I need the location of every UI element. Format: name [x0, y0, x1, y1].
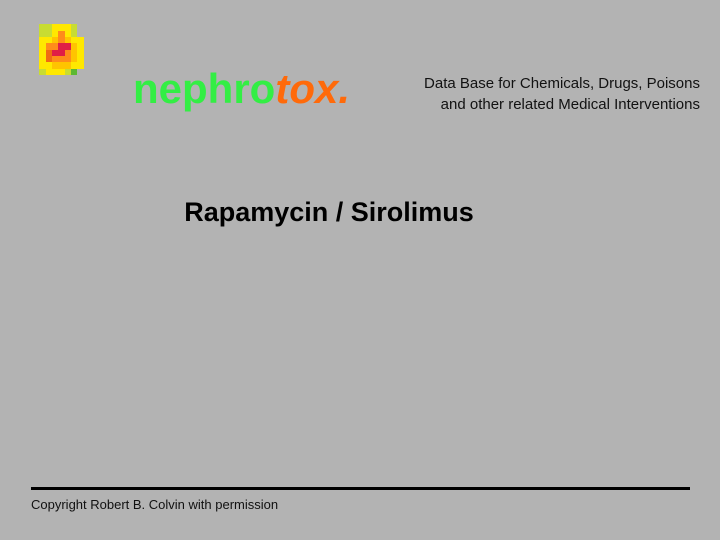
tagline-line-2: and other related Medical Interventions — [380, 94, 700, 115]
footer-divider — [31, 487, 690, 490]
slide-title: Rapamycin / Sirolimus — [0, 196, 720, 228]
footer-copyright: Copyright Robert B. Colvin with permissi… — [31, 496, 278, 514]
tagline: Data Base for Chemicals, Drugs, Poisons … — [380, 73, 700, 115]
wordmark-secondary: tox. — [275, 65, 350, 112]
nephrotox-wordmark: nephrotox. — [133, 68, 350, 110]
nephrotox-logo-icon — [33, 18, 90, 75]
wordmark-primary: nephro — [133, 65, 275, 112]
tagline-line-1: Data Base for Chemicals, Drugs, Poisons — [380, 73, 700, 94]
logo-pixel — [84, 69, 90, 75]
slide-content-area — [31, 250, 689, 475]
presentation-slide: nephrotox. Data Base for Chemicals, Drug… — [0, 0, 720, 540]
